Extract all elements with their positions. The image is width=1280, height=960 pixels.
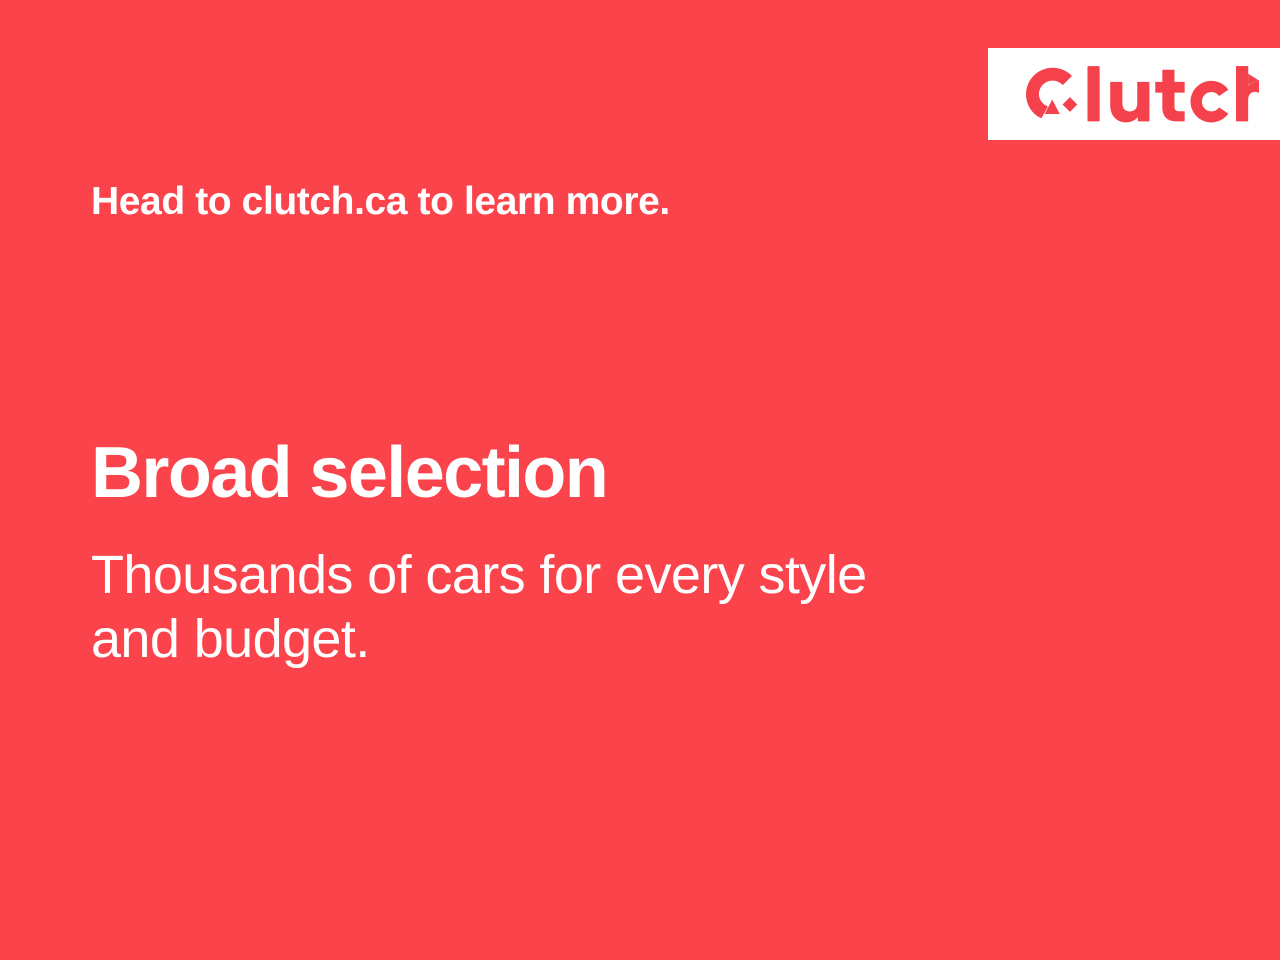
subhead-line-2: and budget. bbox=[91, 607, 1021, 671]
slide-canvas: Head to clutch.ca to learn more. Broad s… bbox=[0, 0, 1280, 960]
subhead-text: Thousands of cars for every style and bu… bbox=[91, 543, 1021, 671]
subhead-line-1: Thousands of cars for every style bbox=[91, 543, 1021, 607]
text-column: Head to clutch.ca to learn more. Broad s… bbox=[91, 0, 1091, 960]
headline-text: Broad selection bbox=[91, 436, 607, 512]
kicker-text: Head to clutch.ca to learn more. bbox=[91, 181, 670, 224]
